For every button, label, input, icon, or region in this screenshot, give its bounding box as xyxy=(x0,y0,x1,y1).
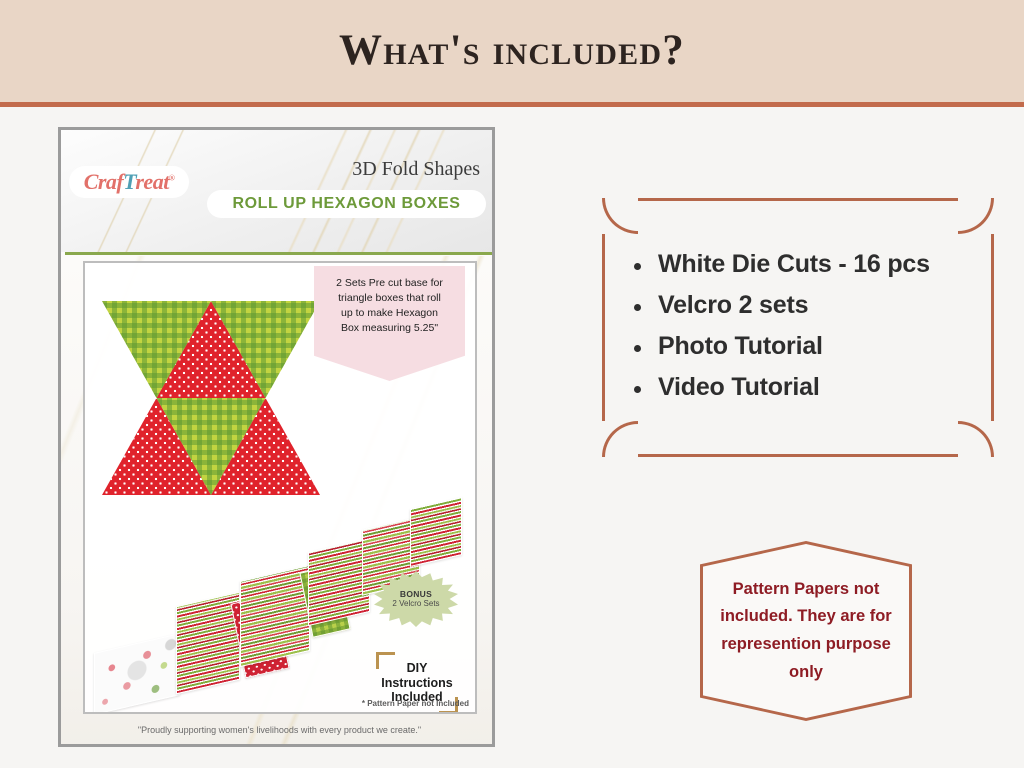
diy-line-2: Instructions xyxy=(381,676,453,691)
callout-line-4: Box measuring 5.25" xyxy=(320,321,459,336)
page-title: What's included? xyxy=(0,26,1024,75)
disclaimer-hexagon-badge: Pattern Papers not included. They are fo… xyxy=(700,541,912,721)
hexagon-die-cut-illustration xyxy=(102,301,320,495)
diy-line-1: DIY xyxy=(407,661,428,676)
list-item: White Die Cuts - 16 pcs xyxy=(624,250,976,279)
frame-edge-left xyxy=(602,234,605,421)
brand-tagline: "Proudly supporting women's livelihoods … xyxy=(61,725,495,735)
list-item: Video Tutorial xyxy=(624,373,976,402)
product-photo-frame: 2 Sets Pre cut base for triangle boxes t… xyxy=(83,261,477,714)
strip-panel-7 xyxy=(410,497,462,567)
card-header-green-rule xyxy=(65,252,494,255)
header-divider-rule xyxy=(0,102,1024,107)
product-line-label: 3D Fold Shapes xyxy=(352,158,480,181)
frame-corner-top-right xyxy=(958,198,994,234)
callout-line-1: 2 Sets Pre cut base for xyxy=(320,276,459,291)
logo-suffix: reat xyxy=(135,169,168,194)
bonus-badge-subtitle: 2 Velcro Sets xyxy=(392,599,439,609)
callout-line-3: up to make Hexagon xyxy=(320,306,459,321)
product-name-pill: ROLL UP HEXAGON BOXES xyxy=(207,190,486,218)
frame-edge-right xyxy=(991,234,994,421)
product-package-card: CrafTreat® 3D Fold Shapes ROLL UP HEXAGO… xyxy=(58,127,495,747)
logo-accent-letter: T xyxy=(123,169,135,194)
strip-panel-snowflake xyxy=(94,633,180,714)
list-item: Photo Tutorial xyxy=(624,332,976,361)
included-items-frame: White Die Cuts - 16 pcs Velcro 2 sets Ph… xyxy=(602,198,994,457)
product-name-label: ROLL UP HEXAGON BOXES xyxy=(232,195,460,213)
logo-prefix: Craf xyxy=(84,169,124,194)
frame-edge-top xyxy=(638,198,958,201)
craftreat-logo: CrafTreat® xyxy=(84,169,175,195)
included-items-list: White Die Cuts - 16 pcs Velcro 2 sets Ph… xyxy=(624,250,976,414)
strip-panel-5 xyxy=(308,538,370,626)
callout-banner: 2 Sets Pre cut base for triangle boxes t… xyxy=(314,266,465,381)
pattern-paper-footnote: * Pattern Paper not Included xyxy=(362,699,469,708)
brand-logo-pill: CrafTreat® xyxy=(69,166,189,198)
list-item: Velcro 2 sets xyxy=(624,291,976,320)
bonus-badge-title: BONUS xyxy=(400,589,432,600)
frame-corner-bottom-right xyxy=(958,421,994,457)
frame-edge-bottom xyxy=(638,454,958,457)
disclaimer-text: Pattern Papers not included. They are fo… xyxy=(703,576,909,687)
callout-line-2: triangle boxes that roll xyxy=(320,291,459,306)
strip-panel-3 xyxy=(240,565,310,667)
frame-corner-bottom-left xyxy=(602,421,638,457)
hexagon-inner-fill: Pattern Papers not included. They are fo… xyxy=(703,544,909,718)
frame-corner-top-left xyxy=(602,198,638,234)
registered-trademark-icon: ® xyxy=(169,174,174,183)
